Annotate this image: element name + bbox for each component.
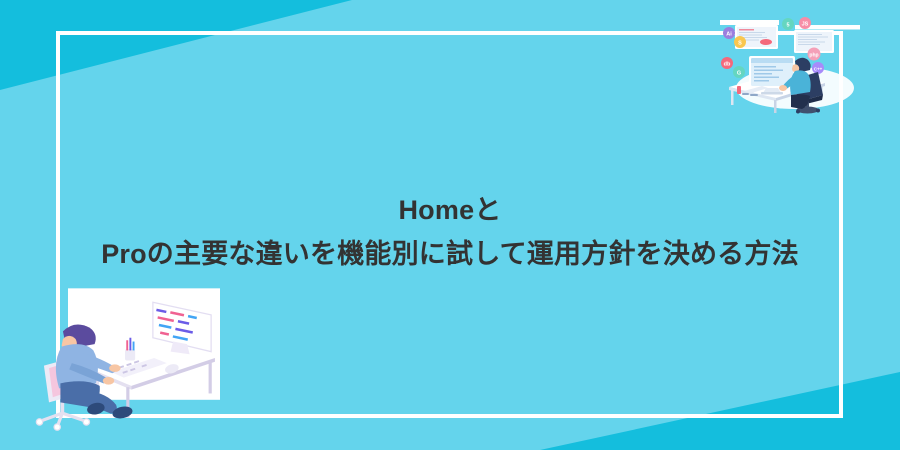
cup-icon	[737, 86, 741, 94]
chair-base	[41, 413, 84, 425]
banner-canvas: Ai S db G 5 JS php C++	[0, 0, 900, 450]
title-line-1: Homeと	[0, 188, 900, 232]
svg-text:JS: JS	[802, 22, 809, 28]
svg-text:php: php	[809, 53, 818, 59]
badge-icon-2: S	[734, 36, 746, 48]
badge-icon-3: db	[721, 57, 733, 69]
svg-text:C++: C++	[814, 67, 823, 72]
illustration-developer-desk: Ai S db G 5 JS php C++	[720, 2, 860, 112]
svg-text:S: S	[738, 41, 742, 47]
page-title: Homeと Proの主要な違いを機能別に試して運用方針を決める方法	[0, 188, 900, 276]
wall-shelf-left	[720, 20, 779, 25]
title-line-2: Proの主要な違いを機能別に試して運用方針を決める方法	[0, 232, 900, 276]
hand-lower	[103, 377, 114, 385]
svg-text:Ai: Ai	[726, 32, 732, 38]
badge-icon-1: Ai	[723, 27, 735, 39]
svg-text:db: db	[724, 62, 731, 68]
svg-text:5: 5	[786, 23, 789, 29]
desk-leg-right	[209, 361, 212, 394]
badge-icon-6: JS	[799, 17, 811, 29]
badge-icon-7: php	[808, 48, 821, 61]
illustration-programmer-coding	[30, 288, 220, 428]
hand	[779, 85, 787, 91]
svg-text:G: G	[737, 71, 741, 77]
badge-icon-4: G	[733, 66, 745, 78]
hand-upper	[109, 364, 120, 372]
badge-icon-5: 5	[782, 18, 794, 30]
